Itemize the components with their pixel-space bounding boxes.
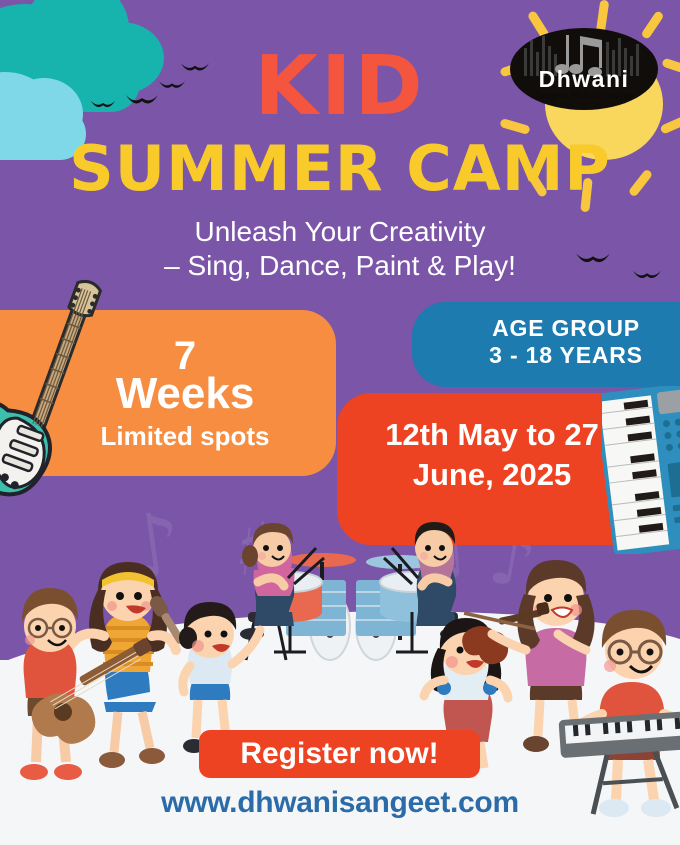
page-title-summer-camp: SUMMER CAMP — [0, 138, 680, 200]
watermark-note-icon: ♯ — [230, 503, 276, 595]
tagline-line-1: Unleash Your Creativity — [0, 215, 680, 249]
age-group-label: AGE GROUP — [412, 315, 680, 342]
electric-guitar-icon — [0, 276, 110, 522]
website-url[interactable]: www.dhwanisangeet.com — [0, 786, 680, 820]
age-group-card: AGE GROUP 3 - 18 YEARS — [412, 302, 680, 387]
watermark-note-icon: ♪ — [118, 492, 189, 604]
tagline: Unleash Your Creativity – Sing, Dance, P… — [0, 215, 680, 283]
dates-text: 12th May to 27 June, 2025 — [357, 415, 627, 494]
poster-canvas: ♪ ♯ ♫ ♪ — [0, 0, 680, 845]
synthesizer-icon — [602, 386, 680, 554]
age-group-value: 3 - 18 YEARS — [412, 342, 680, 369]
register-button[interactable]: Register now! — [199, 730, 480, 778]
page-title-kid: KID — [0, 48, 680, 126]
